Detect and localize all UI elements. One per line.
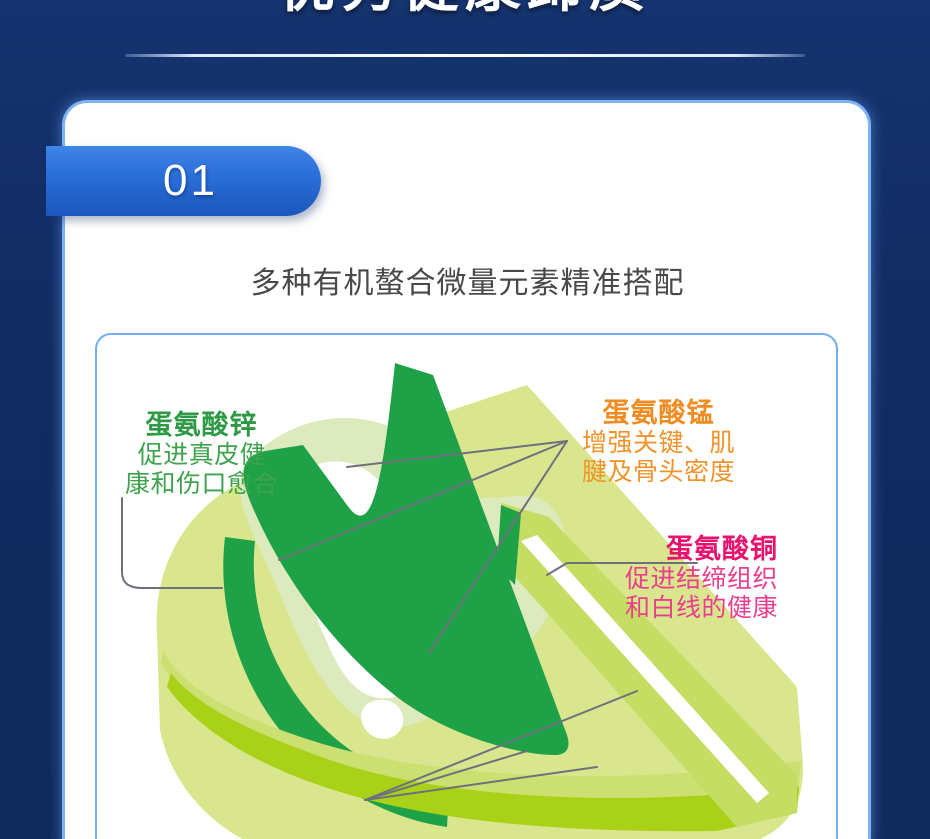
annotation-zinc-line-2: 康和伤口愈合 <box>125 470 278 499</box>
title-divider <box>125 54 805 57</box>
annotation-manganese-line-2: 腱及骨头密度 <box>582 458 735 487</box>
section-number-label: 01 <box>149 156 218 206</box>
annotation-manganese: 蛋氨酸锰 增强关键、肌 腱及骨头密度 <box>582 398 735 487</box>
annotation-zinc: 蛋氨酸锌 促进真皮健 康和伤口愈合 <box>125 410 278 499</box>
zinc-leader-line <box>100 490 240 605</box>
annotation-copper-title: 蛋氨酸铜 <box>625 534 778 565</box>
annotation-copper-line-2: 和白线的健康 <box>625 594 778 623</box>
annotation-manganese-line-1: 增强关键、肌 <box>582 429 735 458</box>
page-title: 优秀健康蹄质 <box>0 0 930 23</box>
page-root: 优秀健康蹄质 01 多种有机螯合微量元素精准搭配 <box>0 0 930 839</box>
annotation-manganese-title: 蛋氨酸锰 <box>582 398 735 429</box>
annotation-copper-line-1: 促进结缔组织 <box>625 565 778 594</box>
annotation-copper: 蛋氨酸铜 促进结缔组织 和白线的健康 <box>625 534 778 623</box>
annotation-zinc-line-1: 促进真皮健 <box>125 441 278 470</box>
section-number-badge[interactable]: 01 <box>46 146 321 216</box>
section-heading: 多种有机螯合微量元素精准搭配 <box>95 258 840 302</box>
annotation-zinc-title: 蛋氨酸锌 <box>125 410 278 441</box>
